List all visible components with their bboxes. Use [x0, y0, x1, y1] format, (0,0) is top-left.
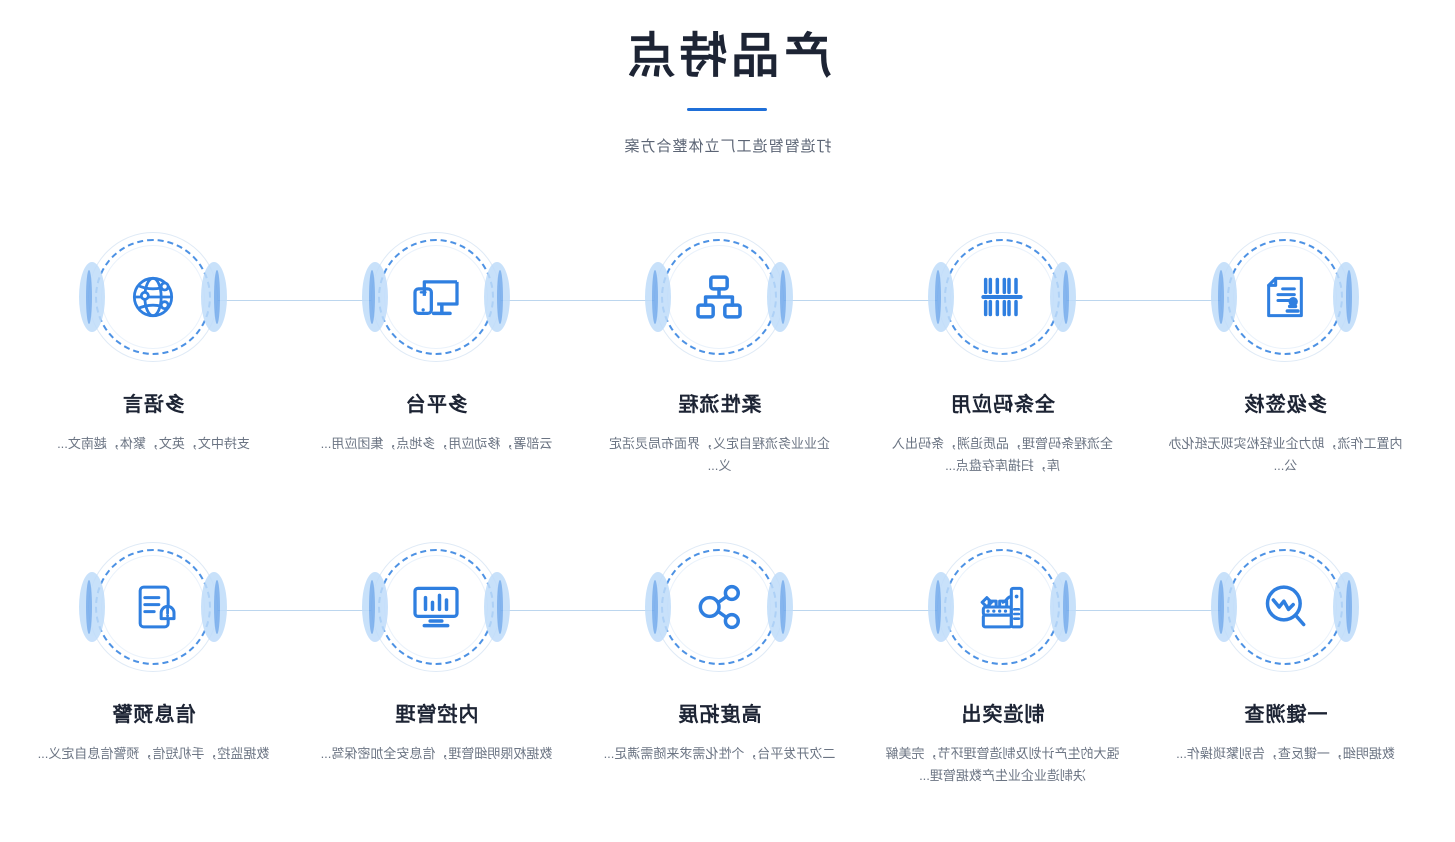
feature-title: 信息预警 — [12, 698, 295, 727]
node-network-icon — [655, 542, 785, 672]
feature-card[interactable]: 多语言 支持中文，英文，繁体，越南文... — [12, 222, 295, 532]
feature-badge — [655, 232, 785, 362]
feature-description: 强大的生产计划及制造管理环节，完美解决制造业企业生产数据管理... — [883, 743, 1123, 787]
feature-card[interactable]: 多平台 云部署，移动应用，多地点，集团应用... — [295, 222, 578, 532]
page-title: 产品特点 — [0, 0, 1455, 86]
feature-title: 制造突出 — [861, 698, 1144, 727]
hierarchy-icon — [655, 232, 785, 362]
feature-badge — [938, 232, 1068, 362]
feature-description: 内置工作流，助力企业轻松实现无纸化办公... — [1166, 433, 1406, 477]
page-subtitle: 打造智智造工厂立体整合方案 — [0, 135, 1455, 156]
factory-icon — [938, 542, 1068, 672]
feature-badge — [372, 232, 502, 362]
feature-card[interactable]: 柔性流程 企业业务流程自定义，界面布局灵活定义... — [578, 222, 861, 532]
feature-description: 二次开发平台，个性化需求来随需满足... — [600, 743, 840, 765]
feature-description: 云部署，移动应用，多地点，集团应用... — [317, 433, 557, 455]
dashboard-chart-icon — [372, 542, 502, 672]
feature-card[interactable]: 内控管理 数据权限明细管理，信息安全加密保驾... — [295, 532, 578, 842]
feature-card[interactable]: 高度拓展 二次开发平台，个性化需求来随需满足... — [578, 532, 861, 842]
features-row-1: 多级签核 内置工作流，助力企业轻松实现无纸化办公... — [0, 222, 1455, 532]
feature-badge — [89, 542, 219, 672]
feature-card[interactable]: 全条码应用 全流程条码管理，品质追溯，条码出入库，扫描库存盘点... — [861, 222, 1144, 532]
feature-title: 多语言 — [12, 388, 295, 417]
multi-device-icon — [372, 232, 502, 362]
feature-description: 全流程条码管理，品质追溯，条码出入库，扫描库存盘点... — [883, 433, 1123, 477]
search-trend-icon — [1221, 542, 1351, 672]
globe-network-icon — [89, 232, 219, 362]
feature-description: 数据权限明细管理，信息安全加密保驾... — [317, 743, 557, 765]
page-header: 产品特点 打造智智造工厂立体整合方案 — [0, 0, 1455, 156]
signed-document-icon — [1221, 232, 1351, 362]
feature-card[interactable]: 制造突出 强大的生产计划及制造管理环节，完美解决制造业企业生产数据管理... — [861, 532, 1144, 842]
title-divider — [688, 108, 768, 111]
product-features-page: 产品特点 打造智智造工厂立体整合方案 — [0, 0, 1455, 841]
feature-title: 全条码应用 — [861, 388, 1144, 417]
features-row-2: 一键溯查 数据明细，一键反查，告别繁琐操作... — [0, 532, 1455, 842]
feature-title: 内控管理 — [295, 698, 578, 727]
feature-badge — [655, 542, 785, 672]
feature-description: 数据监控，手机短信，预警信息自定义... — [34, 743, 274, 765]
feature-description: 支持中文，英文，繁体，越南文... — [34, 433, 274, 455]
feature-card[interactable]: 多级签核 内置工作流，助力企业轻松实现无纸化办公... — [1144, 222, 1427, 532]
feature-badge — [1221, 542, 1351, 672]
feature-title: 多级签核 — [1144, 388, 1427, 417]
feature-badge — [89, 232, 219, 362]
feature-badge — [372, 542, 502, 672]
feature-badge — [1221, 232, 1351, 362]
feature-title: 柔性流程 — [578, 388, 861, 417]
document-alert-icon — [89, 542, 219, 672]
features-grid: 多级签核 内置工作流，助力企业轻松实现无纸化办公... — [0, 222, 1455, 842]
feature-description: 数据明细，一键反查，告别繁琐操作... — [1166, 743, 1406, 765]
feature-card[interactable]: 一键溯查 数据明细，一键反查，告别繁琐操作... — [1144, 532, 1427, 842]
feature-title: 多平台 — [295, 388, 578, 417]
feature-badge — [938, 542, 1068, 672]
feature-title: 一键溯查 — [1144, 698, 1427, 727]
feature-title: 高度拓展 — [578, 698, 861, 727]
barcode-icon — [938, 232, 1068, 362]
feature-description: 企业业务流程自定义，界面布局灵活定义... — [600, 433, 840, 477]
feature-card[interactable]: 信息预警 数据监控，手机短信，预警信息自定义... — [12, 532, 295, 842]
